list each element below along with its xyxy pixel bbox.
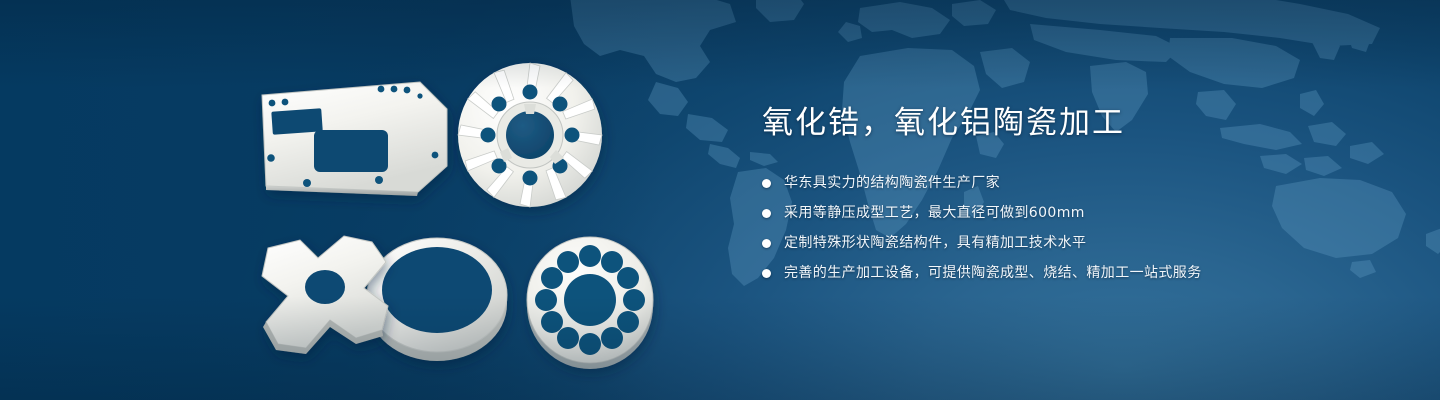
hero-banner: 氧化锆，氧化铝陶瓷加工 华东具实力的结构陶瓷件生产厂家 采用等静压成型工艺，最大…: [0, 0, 1440, 400]
list-item: 定制特殊形状陶瓷结构件，具有精加工技术水平: [762, 233, 1382, 254]
list-item: 完善的生产加工设备，可提供陶瓷成型、烧结、精加工一站式服务: [762, 263, 1382, 284]
bullet-dot-icon: [762, 239, 771, 248]
banner-feature-list: 华东具实力的结构陶瓷件生产厂家 采用等静压成型工艺，最大直径可做到600mm 定…: [762, 173, 1382, 284]
list-item-label: 华东具实力的结构陶瓷件生产厂家: [784, 175, 1000, 191]
bullet-dot-icon: [762, 179, 771, 188]
list-item-label: 完善的生产加工设备，可提供陶瓷成型、烧结、精加工一站式服务: [784, 265, 1202, 281]
list-item: 采用等静压成型工艺，最大直径可做到600mm: [762, 203, 1382, 224]
list-item: 华东具实力的结构陶瓷件生产厂家: [762, 173, 1382, 194]
bullet-dot-icon: [762, 209, 771, 218]
bullet-dot-icon: [762, 269, 771, 278]
list-item-label: 采用等静压成型工艺，最大直径可做到600mm: [784, 205, 1085, 221]
banner-headline: 氧化锆，氧化铝陶瓷加工: [762, 104, 1382, 143]
banner-copy: 氧化锆，氧化铝陶瓷加工 华东具实力的结构陶瓷件生产厂家 采用等静压成型工艺，最大…: [762, 104, 1382, 293]
list-item-label: 定制特殊形状陶瓷结构件，具有精加工技术水平: [784, 235, 1086, 251]
